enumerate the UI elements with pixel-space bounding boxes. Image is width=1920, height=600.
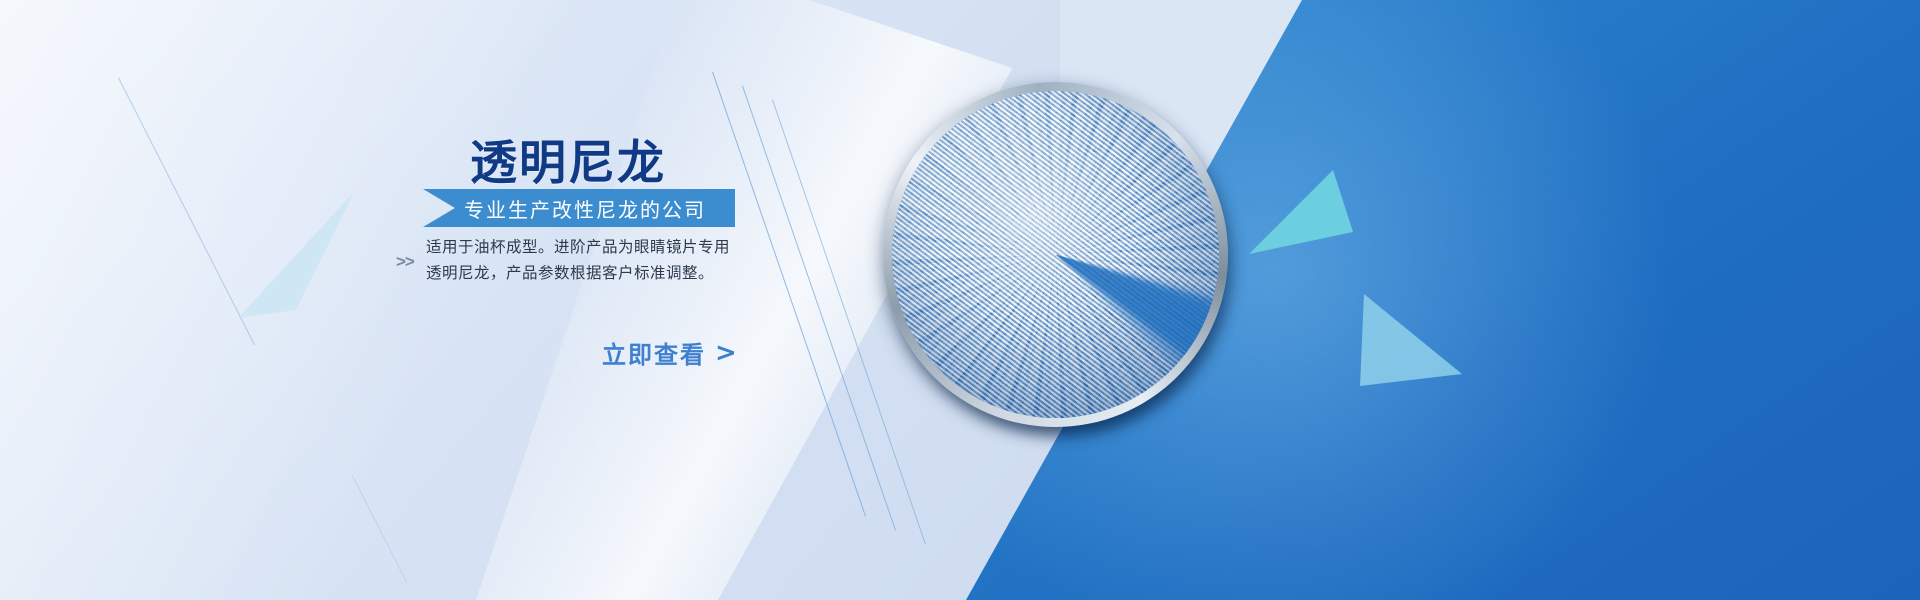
- banner-content: 透明尼龙 专业生产改性尼龙的公司 >> 适用于油杯成型。进阶产品为眼睛镜片专用 …: [0, 0, 1060, 600]
- tagline-ribbon: 专业生产改性尼龙的公司: [395, 189, 735, 227]
- double-chevron-icon: >>: [396, 252, 414, 272]
- promo-banner: 透明尼龙 专业生产改性尼龙的公司 >> 适用于油杯成型。进阶产品为眼睛镜片专用 …: [0, 0, 1920, 600]
- description-text: 适用于油杯成型。进阶产品为眼睛镜片专用 透明尼龙，产品参数根据客户标准调整。: [426, 234, 756, 286]
- page-title: 透明尼龙: [470, 124, 666, 193]
- view-now-button[interactable]: 立即查看 >: [602, 335, 739, 370]
- ribbon-label: 专业生产改性尼龙的公司: [435, 189, 735, 227]
- description-line-2: 透明尼龙，产品参数根据客户标准调整。: [426, 260, 756, 286]
- cta-label: 立即查看: [602, 335, 706, 370]
- chevron-right-icon: >: [715, 340, 739, 366]
- decorative-triangle-lower-right: [1356, 292, 1464, 388]
- description-line-1: 适用于油杯成型。进阶产品为眼睛镜片专用: [426, 234, 756, 260]
- decorative-triangle-upper-right: [1247, 168, 1355, 258]
